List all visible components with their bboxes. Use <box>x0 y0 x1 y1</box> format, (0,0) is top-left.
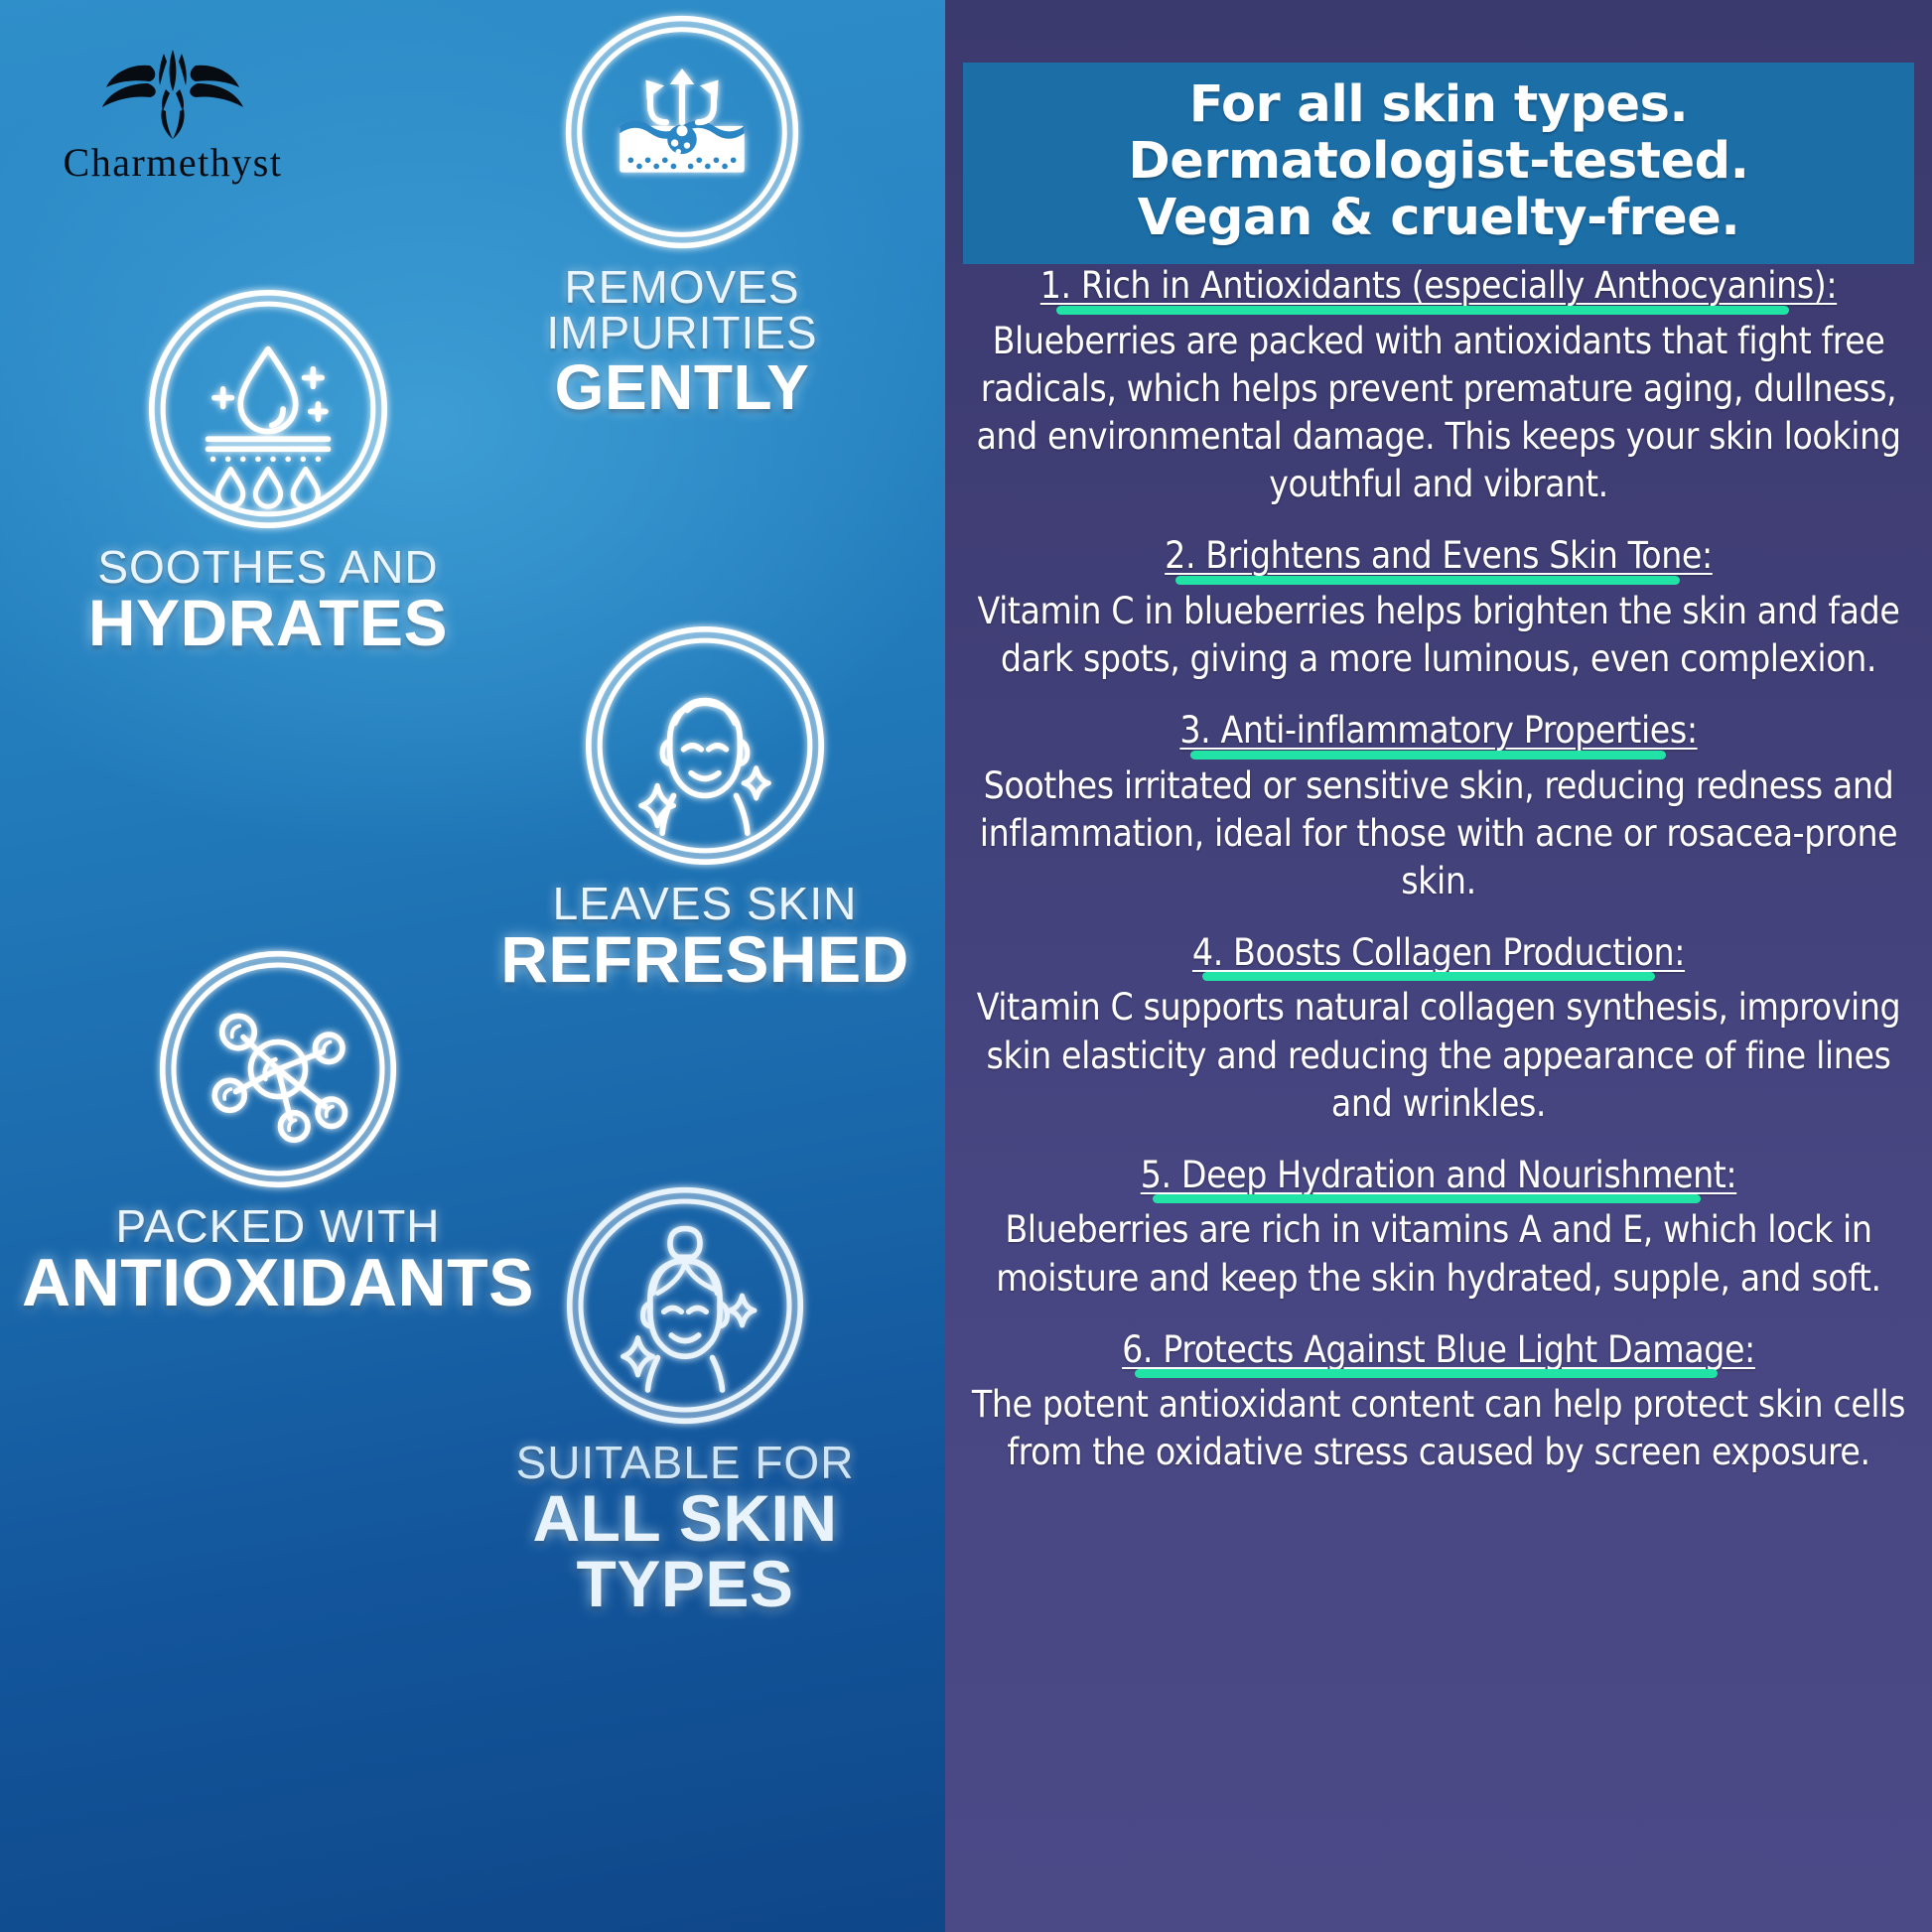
face-with-bun-icon <box>561 1181 809 1430</box>
benefit-item: 4. Boosts Collagen Production: Vitamin C… <box>969 931 1908 1128</box>
green-underline-highlight <box>1190 751 1667 759</box>
claims-line-3: Vegan & cruelty-free. <box>973 190 1904 246</box>
benefit-body: Soothes irritated or sensitive skin, red… <box>969 762 1908 905</box>
benefit-heading: 5. Deep Hydration and Nourishment: <box>1141 1154 1737 1199</box>
green-underline-highlight <box>1153 1194 1701 1203</box>
benefit-body: Vitamin C in blueberries helps brighten … <box>969 588 1908 683</box>
water-droplet-hydration-icon <box>143 284 393 534</box>
feature-label-line1: SOOTHES AND <box>25 544 511 590</box>
benefit-heading: 2. Brightens and Evens Skin Tone: <box>1165 534 1713 580</box>
feature-label-line2: HYDRATES <box>25 590 511 655</box>
benefit-item: 5. Deep Hydration and Nourishment: Blueb… <box>969 1154 1908 1303</box>
brand-name: Charmethyst <box>24 143 322 183</box>
green-underline-highlight <box>1056 306 1789 315</box>
benefit-heading-text: 1. Rich in Antioxidants (especially Anth… <box>1040 264 1837 307</box>
benefit-heading: 4. Boosts Collagen Production: <box>1192 931 1685 977</box>
green-underline-highlight <box>1202 972 1655 981</box>
benefit-heading-text: 3. Anti-inflammatory Properties: <box>1179 709 1697 752</box>
claims-line-2: Dermatologist-tested. <box>973 133 1904 190</box>
feature-label: SUITABLE FOR ALL SKIN TYPES <box>427 1440 943 1616</box>
molecule-icon <box>154 945 402 1193</box>
feature-label-line1: LEAVES SKIN <box>467 881 943 926</box>
feature-label-line2: ALL SKIN TYPES <box>427 1485 943 1616</box>
feature-soothes-hydrates: SOOTHES AND HYDRATES <box>25 284 511 655</box>
green-underline-highlight <box>1135 1369 1718 1378</box>
floral-wing-emblem-icon <box>78 48 267 139</box>
benefit-heading-text: 6. Protects Against Blue Light Damage: <box>1122 1328 1755 1371</box>
benefit-heading-text: 2. Brightens and Evens Skin Tone: <box>1165 534 1713 577</box>
claims-line-1: For all skin types. <box>973 76 1904 133</box>
feature-label-line1: SUITABLE FOR <box>427 1440 943 1485</box>
feature-leaves-skin-refreshed: LEAVES SKIN REFRESHED <box>467 621 943 992</box>
refreshed-face-icon <box>580 621 830 871</box>
benefit-body: Vitamin C supports natural collagen synt… <box>969 984 1908 1127</box>
claims-banner: For all skin types. Dermatologist-tested… <box>963 63 1914 264</box>
benefit-heading-text: 5. Deep Hydration and Nourishment: <box>1141 1154 1737 1196</box>
left-benefits-panel: Charmethyst <box>0 0 945 1932</box>
benefit-body: Blueberries are packed with antioxidants… <box>969 318 1908 508</box>
benefit-heading-text: 4. Boosts Collagen Production: <box>1192 931 1685 974</box>
benefits-list: 1. Rich in Antioxidants (especially Anth… <box>955 264 1922 1476</box>
benefit-heading: 3. Anti-inflammatory Properties: <box>1179 709 1697 755</box>
benefit-body: The potent antioxidant content can help … <box>969 1381 1908 1476</box>
benefit-item: 1. Rich in Antioxidants (especially Anth… <box>969 264 1908 508</box>
benefit-heading: 1. Rich in Antioxidants (especially Anth… <box>1040 264 1837 310</box>
benefit-item: 2. Brightens and Evens Skin Tone: Vitami… <box>969 534 1908 683</box>
benefit-item: 6. Protects Against Blue Light Damage: T… <box>969 1328 1908 1477</box>
green-underline-highlight <box>1175 576 1680 585</box>
feature-label: SOOTHES AND HYDRATES <box>25 544 511 655</box>
feature-suitable-all-skin-types: SUITABLE FOR ALL SKIN TYPES <box>427 1181 943 1616</box>
benefit-item: 3. Anti-inflammatory Properties: Soothes… <box>969 709 1908 905</box>
infographic-canvas: Charmethyst <box>0 0 1932 1932</box>
benefit-heading: 6. Protects Against Blue Light Damage: <box>1122 1328 1755 1374</box>
skin-pore-cleansing-icon <box>560 10 804 254</box>
benefit-body: Blueberries are rich in vitamins A and E… <box>969 1206 1908 1302</box>
brand-logo: Charmethyst <box>24 48 322 183</box>
right-details-panel: For all skin types. Dermatologist-tested… <box>945 0 1932 1932</box>
